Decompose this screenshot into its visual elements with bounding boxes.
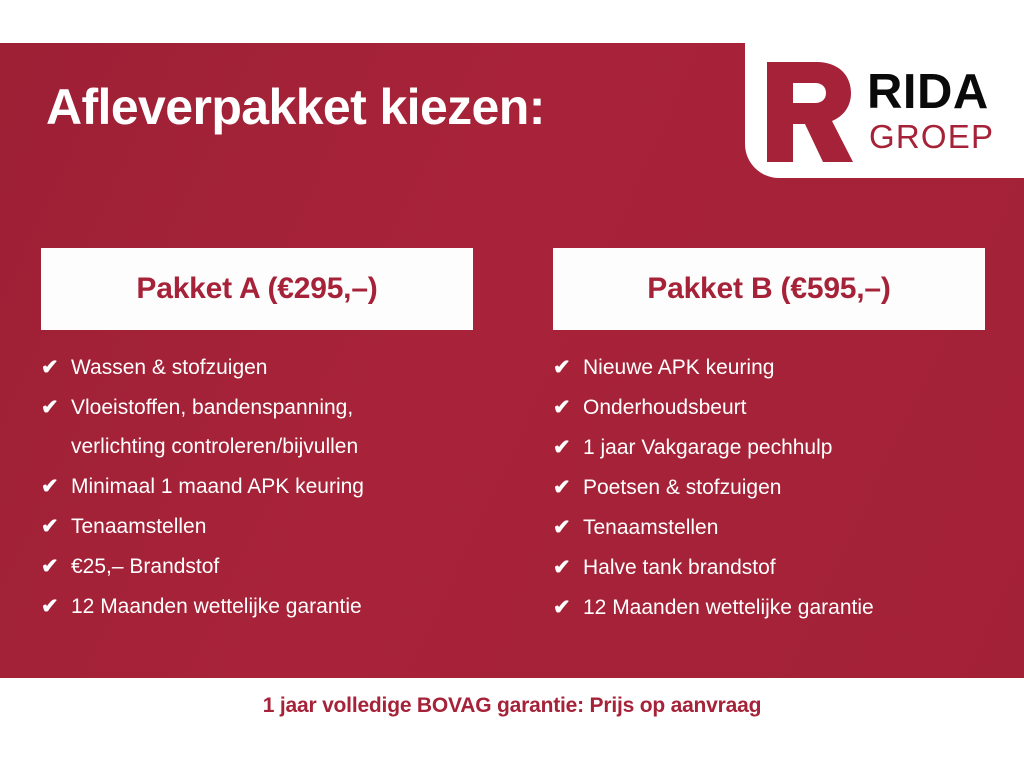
list-item: ✔ €25,– Brandstof [41, 547, 473, 586]
package-column-b: Pakket B (€595,–) ✔ Nieuwe APK keuring ✔… [553, 248, 985, 628]
list-item: ✔ Tenaamstellen [41, 507, 473, 546]
check-icon: ✔ [553, 348, 583, 387]
check-icon: ✔ [553, 548, 583, 587]
footer-bar: 1 jaar volledige BOVAG garantie: Prijs o… [0, 678, 1024, 768]
check-icon: ✔ [41, 388, 71, 427]
package-b-feature-list: ✔ Nieuwe APK keuring ✔ Onderhoudsbeurt ✔… [553, 348, 985, 627]
list-item-label: Nieuwe APK keuring [583, 348, 985, 387]
list-item: ✔ 12 Maanden wettelijke garantie [553, 588, 985, 627]
list-item-label: 12 Maanden wettelijke garantie [71, 587, 473, 626]
check-icon: ✔ [553, 428, 583, 467]
list-item-label: €25,– Brandstof [71, 547, 473, 586]
check-icon: ✔ [553, 588, 583, 627]
list-item: ✔ Nieuwe APK keuring [553, 348, 985, 387]
package-b-header: Pakket B (€595,–) [553, 248, 985, 330]
list-item: ✔ 12 Maanden wettelijke garantie [41, 587, 473, 626]
check-icon: ✔ [41, 348, 71, 387]
footer-note: 1 jaar volledige BOVAG garantie: Prijs o… [0, 694, 1024, 718]
list-item: ✔ Tenaamstellen [553, 508, 985, 547]
package-a-header: Pakket A (€295,–) [41, 248, 473, 330]
package-column-a: Pakket A (€295,–) ✔ Wassen & stofzuigen … [41, 248, 473, 627]
list-item: ✔ Onderhoudsbeurt [553, 388, 985, 427]
check-icon: ✔ [553, 388, 583, 427]
slide-afleverpakket: RIDA GROEP Afleverpakket kiezen: Pakket … [0, 0, 1024, 768]
check-icon: ✔ [553, 508, 583, 547]
list-item-label: Wassen & stofzuigen [71, 348, 473, 387]
list-item-label: Vloeistoffen, bandenspanning, verlichtin… [71, 388, 473, 466]
list-item: ✔ Minimaal 1 maand APK keuring [41, 467, 473, 506]
list-item-label: Tenaamstellen [71, 507, 473, 546]
logo-name-primary: RIDA [867, 68, 994, 117]
package-a-feature-list: ✔ Wassen & stofzuigen ✔ Vloeistoffen, ba… [41, 348, 473, 626]
rida-groep-logo: RIDA GROEP [745, 43, 1024, 178]
list-item-label: Onderhoudsbeurt [583, 388, 985, 427]
list-item-label: 12 Maanden wettelijke garantie [583, 588, 985, 627]
package-b-title: Pakket B (€595,–) [647, 272, 890, 306]
page-title: Afleverpakket kiezen: [46, 78, 545, 136]
check-icon: ✔ [41, 507, 71, 546]
list-item: ✔ 1 jaar Vakgarage pechhulp [553, 428, 985, 467]
package-a-title: Pakket A (€295,–) [136, 272, 377, 306]
check-icon: ✔ [553, 468, 583, 507]
list-item-label: Halve tank brandstof [583, 548, 985, 587]
list-item-label: Poetsen & stofzuigen [583, 468, 985, 507]
list-item-label: Tenaamstellen [583, 508, 985, 547]
rida-r-monogram-icon [759, 56, 855, 168]
check-icon: ✔ [41, 467, 71, 506]
check-icon: ✔ [41, 587, 71, 626]
logo-name-secondary: GROEP [867, 120, 994, 153]
check-icon: ✔ [41, 547, 71, 586]
logo-wordmark: RIDA GROEP [867, 68, 994, 153]
list-item: ✔ Vloeistoffen, bandenspanning, verlicht… [41, 388, 473, 466]
list-item: ✔ Halve tank brandstof [553, 548, 985, 587]
list-item: ✔ Wassen & stofzuigen [41, 348, 473, 387]
list-item: ✔ Poetsen & stofzuigen [553, 468, 985, 507]
list-item-label: 1 jaar Vakgarage pechhulp [583, 428, 985, 467]
list-item-label: Minimaal 1 maand APK keuring [71, 467, 473, 506]
